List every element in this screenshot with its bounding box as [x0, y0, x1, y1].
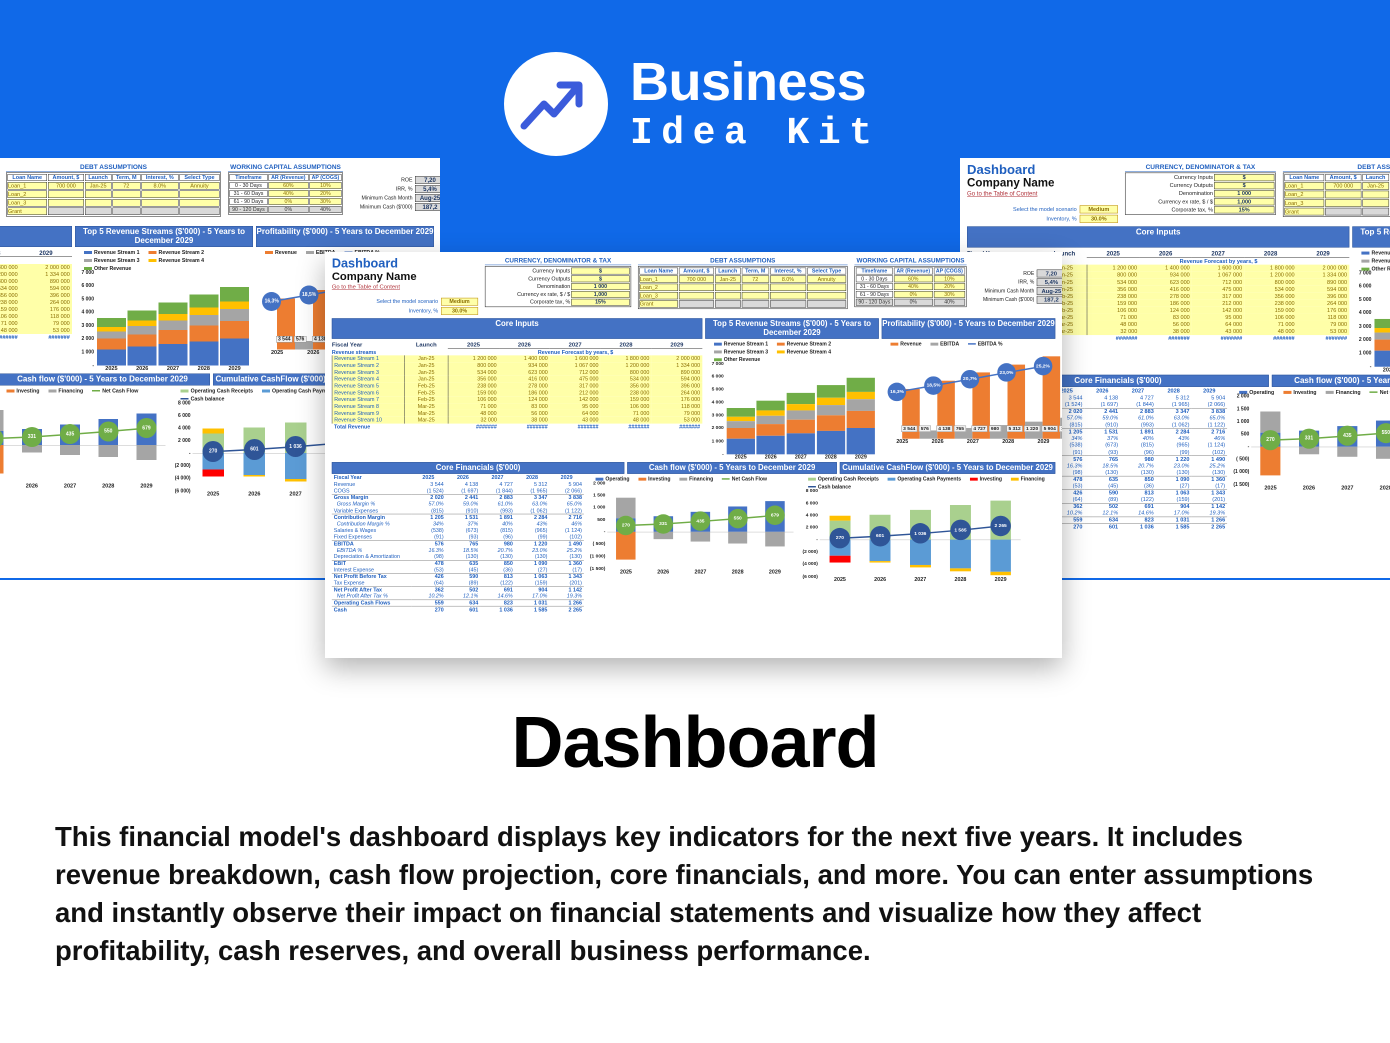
- stream-value[interactable]: 71 000: [0, 320, 20, 327]
- stream-launch[interactable]: Jan-25: [405, 369, 448, 376]
- debt-cell[interactable]: [85, 199, 111, 207]
- currency-value[interactable]: 1,000: [571, 291, 630, 298]
- debt-cell[interactable]: Loan_2: [639, 284, 677, 291]
- stream-value[interactable]: 1 800 000: [600, 355, 651, 362]
- cf-row-value: 1 090: [1156, 476, 1192, 483]
- chart-cash-flow: OperatingInvestingFinancingNet Cash Flow…: [587, 475, 797, 613]
- stream-value[interactable]: 1 334 000: [651, 362, 702, 369]
- x-tick: 2025: [620, 569, 632, 575]
- debt-cell[interactable]: [179, 208, 219, 216]
- stream-value[interactable]: 48 000: [1244, 328, 1296, 335]
- stream-value[interactable]: 1 400 000: [499, 355, 550, 362]
- stream-value[interactable]: 623 000: [1139, 279, 1191, 286]
- debt-cell[interactable]: [715, 292, 741, 299]
- stream-launch[interactable]: Feb-25: [405, 389, 448, 396]
- inventory-select[interactable]: 30.0%: [441, 307, 478, 315]
- stream-value[interactable]: 2 000 000: [651, 355, 702, 362]
- wc-cell[interactable]: 0%: [894, 299, 933, 306]
- debt-cell[interactable]: [48, 199, 84, 207]
- stream-value[interactable]: 1 067 000: [550, 362, 601, 369]
- stream-value[interactable]: 159 000: [600, 396, 651, 403]
- stream-value[interactable]: 106 000: [448, 396, 499, 403]
- core-financials-table: Fiscal Year20252026202720282029Revenue3 …: [332, 475, 584, 613]
- page-title: Dashboard: [0, 702, 1390, 784]
- stream-value[interactable]: 475 000: [1192, 286, 1244, 293]
- wc-cell[interactable]: 0%: [268, 206, 308, 213]
- cf-row-value: 850: [1120, 476, 1156, 483]
- stream-value[interactable]: 71 000: [448, 403, 499, 410]
- debt-cell[interactable]: [112, 191, 140, 199]
- stream-value[interactable]: 32 000: [1087, 328, 1139, 335]
- legend-swatch: [181, 389, 189, 392]
- stream-value[interactable]: 1 200 000: [1087, 264, 1139, 271]
- bar-segment: [158, 303, 187, 315]
- table-of-content-link[interactable]: Go to the Table of Content: [332, 283, 478, 290]
- stream-value[interactable]: 800 000: [0, 278, 20, 285]
- value-bubble: 270: [830, 528, 850, 548]
- stream-value[interactable]: 238 000: [448, 382, 499, 389]
- stream-name[interactable]: Revenue Stream 8: [332, 403, 404, 410]
- stream-value[interactable]: 800 000: [448, 362, 499, 369]
- currency-value[interactable]: $: [1214, 182, 1274, 189]
- stream-value[interactable]: 176 000: [1297, 307, 1349, 314]
- stream-value[interactable]: 79 000: [1297, 321, 1349, 328]
- wc-cell[interactable]: 30%: [309, 198, 341, 205]
- stream-value[interactable]: 396 000: [1297, 293, 1349, 300]
- bar-segment: [757, 401, 785, 411]
- revenue-stream-row: Revenue Stream 2Jan-25800 000934 0001 06…: [332, 362, 702, 369]
- stream-value[interactable]: 106 000: [600, 403, 651, 410]
- stream-value[interactable]: 264 000: [1297, 300, 1349, 307]
- debt-box-title: DEBT ASSUMPTIONS: [6, 163, 221, 172]
- stream-value[interactable]: 95 000: [550, 403, 601, 410]
- debt-cell[interactable]: Loan_3: [8, 199, 47, 207]
- debt-cell[interactable]: [807, 300, 846, 307]
- stream-launch[interactable]: Jan-25: [405, 355, 448, 362]
- debt-cell[interactable]: Loan_2: [8, 191, 47, 199]
- stream-value[interactable]: 1 200 000: [0, 271, 20, 278]
- stream-value[interactable]: 1 200 000: [1244, 271, 1296, 278]
- stream-value[interactable]: 416 000: [499, 376, 550, 383]
- debt-cell[interactable]: Loan_3: [639, 292, 677, 299]
- stream-value[interactable]: 43 000: [550, 417, 601, 424]
- stream-value[interactable]: 317 000: [1192, 293, 1244, 300]
- debt-cell[interactable]: Loan_1: [639, 275, 677, 282]
- wc-cell[interactable]: 10%: [309, 182, 341, 189]
- brand-subtitle: Idea Kit: [630, 115, 880, 153]
- debt-cell[interactable]: [742, 292, 769, 299]
- debt-cell[interactable]: [85, 191, 111, 199]
- wc-cell[interactable]: 40%: [309, 206, 341, 213]
- scenario-select[interactable]: Medium: [441, 298, 478, 306]
- debt-cell[interactable]: [807, 284, 846, 291]
- stream-value[interactable]: 356 000: [1244, 293, 1296, 300]
- debt-cell[interactable]: [112, 199, 140, 207]
- stream-value[interactable]: 594 000: [20, 285, 72, 292]
- stream-value[interactable]: 95 000: [1192, 314, 1244, 321]
- stream-value[interactable]: 186 000: [499, 389, 550, 396]
- debt-cell[interactable]: [715, 284, 741, 291]
- stream-value[interactable]: 142 000: [1192, 307, 1244, 314]
- debt-cell[interactable]: [742, 300, 769, 307]
- stream-value[interactable]: 2 000 000: [1297, 264, 1349, 271]
- debt-cell[interactable]: [179, 191, 219, 199]
- currency-value[interactable]: $: [571, 268, 630, 275]
- wc-cell[interactable]: 30%: [934, 291, 965, 298]
- cf-row-value: 59.0%: [1084, 415, 1120, 422]
- stream-value[interactable]: 356 000: [1087, 286, 1139, 293]
- stream-value[interactable]: 159 000: [1244, 307, 1296, 314]
- legend-item: Financing: [48, 388, 83, 394]
- stream-value[interactable]: 83 000: [499, 403, 550, 410]
- cf-row-value: 40%: [1120, 435, 1156, 442]
- stream-value[interactable]: 1 600 000: [550, 355, 601, 362]
- working-capital-table: TimeframeAR (Revenue)AP (COGS)0 - 30 Day…: [228, 173, 343, 215]
- stream-value[interactable]: 416 000: [1139, 286, 1191, 293]
- currency-table: Currency Inputs$Currency Outputs$Denomin…: [485, 266, 631, 307]
- debt-cell[interactable]: [679, 292, 714, 299]
- stream-value[interactable]: 264 000: [20, 299, 72, 306]
- stream-name[interactable]: Revenue Stream 3: [332, 369, 404, 376]
- stream-value[interactable]: 71 000: [1087, 314, 1139, 321]
- debt-cell[interactable]: [679, 300, 714, 307]
- bar-segment: [158, 330, 187, 344]
- currency-value[interactable]: $: [1214, 174, 1274, 181]
- revenue-stream-row: Revenue Stream 4Jan-25356 000416 000475 …: [0, 285, 72, 292]
- bar-segment: [787, 433, 815, 454]
- debt-cell[interactable]: 8.0%: [770, 275, 806, 282]
- kpi-row: Minimum Cash ($'000)187,2: [350, 203, 440, 211]
- chart-profitability: RevenueEBITDAEBITDA %3 5445764 1387654 7…: [882, 340, 1062, 460]
- debt-cell[interactable]: [1362, 199, 1389, 207]
- stream-value[interactable]: 159 000: [1087, 300, 1139, 307]
- stream-value[interactable]: 212 000: [550, 389, 601, 396]
- stream-value[interactable]: 800 000: [600, 369, 651, 376]
- debt-cell[interactable]: [807, 292, 846, 299]
- stream-name[interactable]: Revenue Stream 9: [332, 410, 404, 417]
- stream-value[interactable]: 890 000: [1297, 279, 1349, 286]
- cf-row-value: 20.7%: [1120, 462, 1156, 469]
- debt-cell[interactable]: 700 000: [1325, 182, 1361, 190]
- kpi-row: Minimum Cash ($'000)187,2: [973, 296, 1062, 304]
- stream-value[interactable]: 278 000: [1139, 293, 1191, 300]
- stream-value[interactable]: 356 000: [0, 292, 20, 299]
- stream-value[interactable]: 159 000: [448, 389, 499, 396]
- y-tick: -: [1370, 364, 1372, 370]
- stream-value[interactable]: 38 000: [1139, 328, 1191, 335]
- currency-row: Denomination1 000: [486, 283, 629, 290]
- stream-value[interactable]: 800 000: [1087, 271, 1139, 278]
- stream-value[interactable]: 106 000: [1087, 307, 1139, 314]
- debt-cell[interactable]: [1362, 191, 1389, 199]
- debt-cell[interactable]: [141, 199, 178, 207]
- debt-cell[interactable]: Loan_1: [8, 182, 47, 190]
- stream-value[interactable]: 1 067 000: [1192, 271, 1244, 278]
- stream-value[interactable]: 712 000: [550, 369, 601, 376]
- stream-value[interactable]: 118 000: [651, 403, 702, 410]
- stream-value[interactable]: 212 000: [1192, 300, 1244, 307]
- bar-segment: [1374, 333, 1390, 340]
- debt-cell[interactable]: [715, 300, 741, 307]
- stream-value[interactable]: 238 000: [1244, 300, 1296, 307]
- stream-value[interactable]: 1 334 000: [20, 271, 72, 278]
- currency-label: Currency ex rate, $ / $: [1126, 198, 1213, 205]
- stream-value[interactable]: 64 000: [1192, 321, 1244, 328]
- legend-item: Revenue Stream 1: [84, 249, 140, 255]
- stream-value[interactable]: 106 000: [0, 313, 20, 320]
- debt-cell[interactable]: [48, 191, 84, 199]
- debt-cell[interactable]: [141, 191, 178, 199]
- inventory-select[interactable]: 30.0%: [1080, 215, 1118, 223]
- stream-launch[interactable]: Mar-25: [405, 410, 448, 417]
- wc-cell[interactable]: 40%: [894, 283, 933, 290]
- currency-value[interactable]: 1,000: [1214, 198, 1274, 205]
- foreground-spreadsheet-center[interactable]: DashboardCompany NameGo to the Table of …: [325, 252, 1062, 658]
- stream-value[interactable]: 142 000: [550, 396, 601, 403]
- currency-box-title: CURRENCY, DENOMINATOR & TAX: [1125, 163, 1276, 172]
- stream-launch[interactable]: Jan-25: [405, 362, 448, 369]
- stream-value[interactable]: 32 000: [448, 417, 499, 424]
- debt-cell[interactable]: [770, 284, 806, 291]
- debt-cell[interactable]: [1362, 208, 1389, 216]
- year-header: 2026: [499, 341, 550, 348]
- ebitda-percent-bubble: 18,5%: [300, 285, 319, 304]
- debt-cell[interactable]: [1325, 208, 1361, 216]
- debt-cell[interactable]: [770, 300, 806, 307]
- debt-cell[interactable]: 700 000: [679, 275, 714, 282]
- debt-cell[interactable]: Loan_1: [1284, 182, 1324, 190]
- cf-row-value: (130): [1156, 469, 1192, 476]
- debt-cell[interactable]: [1325, 199, 1361, 207]
- chart-top-5-revenue-streams: Revenue Stream 1Revenue Stream 2Revenue …: [75, 248, 253, 372]
- debt-cell[interactable]: Annuity: [807, 275, 846, 282]
- stream-value[interactable]: 264 000: [651, 389, 702, 396]
- debt-cell[interactable]: [48, 208, 84, 216]
- cf-row-value: (1 697): [1084, 401, 1120, 408]
- bar-segment: [727, 421, 755, 428]
- debt-cell[interactable]: Jan-25: [1362, 182, 1389, 190]
- wc-cell[interactable]: 10%: [934, 275, 965, 282]
- wc-cell[interactable]: 40%: [934, 299, 965, 306]
- stream-value[interactable]: 800 000: [1244, 279, 1296, 286]
- stream-value[interactable]: 238 000: [0, 299, 20, 306]
- stream-value[interactable]: 356 000: [448, 376, 499, 383]
- stream-value[interactable]: 534 000: [1244, 286, 1296, 293]
- debt-cell[interactable]: [1325, 191, 1361, 199]
- currency-value[interactable]: 15%: [571, 299, 630, 306]
- wc-cell[interactable]: 20%: [934, 283, 965, 290]
- currency-value[interactable]: 15%: [1214, 206, 1274, 213]
- stream-launch[interactable]: Feb-25: [405, 396, 448, 403]
- wc-cell[interactable]: 0%: [894, 291, 933, 298]
- stream-value[interactable]: 71 000: [1244, 321, 1296, 328]
- bar-group: [1373, 273, 1390, 367]
- wc-cell[interactable]: 0%: [268, 198, 308, 205]
- dashboard-title: Dashboard: [967, 163, 1118, 177]
- stream-value[interactable]: 934 000: [1139, 271, 1191, 278]
- x-axis: 20252026202720282029: [799, 576, 1023, 582]
- stream-value[interactable]: 71 000: [600, 410, 651, 417]
- stream-value[interactable]: 176 000: [651, 396, 702, 403]
- bar-column: [727, 408, 755, 454]
- bar-segment: [158, 344, 187, 365]
- stream-value[interactable]: 238 000: [1087, 293, 1139, 300]
- stream-value[interactable]: 124 000: [499, 396, 550, 403]
- debt-cell[interactable]: 72: [112, 182, 140, 190]
- stream-launch[interactable]: Mar-25: [405, 403, 448, 410]
- scenario-select[interactable]: Medium: [1080, 205, 1118, 213]
- cf-row: Contribution Margin1 2051 5311 8912 2842…: [332, 514, 584, 521]
- debt-cell[interactable]: [85, 208, 111, 216]
- debt-cell[interactable]: 8.0%: [141, 182, 178, 190]
- debt-cell[interactable]: Grant: [639, 300, 677, 307]
- stream-value[interactable]: 475 000: [550, 376, 601, 383]
- stream-launch[interactable]: Jan-25: [405, 376, 448, 383]
- debt-cell[interactable]: Loan_2: [1284, 191, 1324, 199]
- stream-value[interactable]: 48 000: [600, 417, 651, 424]
- chart-plot: 3 5445764 1387654 7279805 3121 2205 9041…: [882, 348, 1062, 439]
- stream-value[interactable]: 1 800 000: [1244, 264, 1296, 271]
- stream-value[interactable]: 534 000: [600, 376, 651, 383]
- core-financials-panel: Fiscal Year20252026202720282029Revenue3 …: [332, 475, 584, 613]
- stream-value[interactable]: 534 000: [1087, 279, 1139, 286]
- wc-cell[interactable]: 40%: [268, 190, 308, 197]
- stream-value[interactable]: 890 000: [20, 278, 72, 285]
- table-of-content-link[interactable]: Go to the Table of Content: [967, 190, 1118, 197]
- currency-value[interactable]: 1 000: [571, 283, 630, 290]
- stream-value[interactable]: 890 000: [651, 369, 702, 376]
- stream-value[interactable]: 934 000: [499, 362, 550, 369]
- stream-name[interactable]: Revenue Stream 1: [332, 355, 404, 362]
- debt-cell[interactable]: [742, 284, 769, 291]
- cf-row-value: 1 031: [1156, 517, 1192, 524]
- cf-row-value: (965): [1156, 442, 1192, 449]
- y-tick: 4 000: [712, 400, 724, 405]
- debt-cell[interactable]: 72: [742, 275, 769, 282]
- debt-cell[interactable]: Grant: [8, 208, 47, 216]
- stream-value[interactable]: 83 000: [1139, 314, 1191, 321]
- stream-value[interactable]: 48 000: [0, 327, 20, 334]
- debt-cell[interactable]: [679, 284, 714, 291]
- debt-cell[interactable]: Grant: [1284, 208, 1324, 216]
- stream-launch[interactable]: Mar-25: [405, 417, 448, 424]
- stream-value[interactable]: 43 000: [1192, 328, 1244, 335]
- cf-row-value: (96): [1120, 449, 1156, 456]
- stream-value[interactable]: 396 000: [20, 292, 72, 299]
- stream-value[interactable]: 53 000: [20, 327, 72, 334]
- stream-value[interactable]: 64 000: [550, 410, 601, 417]
- stream-value[interactable]: 712 000: [1192, 279, 1244, 286]
- stream-value[interactable]: 38 000: [499, 417, 550, 424]
- currency-value[interactable]: $: [571, 275, 630, 282]
- wc-col-header: Timeframe: [856, 268, 893, 275]
- stream-value[interactable]: 534 000: [448, 369, 499, 376]
- debt-cell[interactable]: [770, 292, 806, 299]
- stream-value[interactable]: 186 000: [1139, 300, 1191, 307]
- y-axis: -1 0002 0003 0004 0005 0006 0007 000: [1352, 273, 1372, 367]
- currency-value[interactable]: 1 000: [1214, 190, 1274, 197]
- debt-cell[interactable]: 700 000: [48, 182, 84, 190]
- total-revenue-value: #######: [1139, 335, 1191, 342]
- debt-cell[interactable]: [112, 208, 140, 216]
- stream-value[interactable]: 1 400 000: [1139, 264, 1191, 271]
- legend-swatch: [149, 259, 157, 262]
- stream-value[interactable]: 1 200 000: [600, 362, 651, 369]
- sheet-title-block: DashboardCompany NameGo to the Table of …: [967, 163, 1118, 224]
- stream-value[interactable]: 317 000: [550, 382, 601, 389]
- stream-value[interactable]: 1 800 000: [0, 264, 20, 271]
- currency-box: CURRENCY, DENOMINATOR & TAXCurrency Inpu…: [485, 257, 631, 307]
- stream-value[interactable]: 56 000: [1139, 321, 1191, 328]
- revenue-stream-row: Revenue Stream 2Jan-25800 000934 0001 06…: [0, 271, 72, 278]
- cf-row-label: Tax Expense: [332, 580, 411, 587]
- stream-value[interactable]: 1 200 000: [448, 355, 499, 362]
- stream-value[interactable]: 159 000: [0, 306, 20, 313]
- x-tick: 2027: [967, 439, 979, 445]
- stream-value[interactable]: 124 000: [1139, 307, 1191, 314]
- legend-item: Revenue Stream 4: [149, 257, 205, 263]
- bar-segment: [1374, 319, 1390, 328]
- wc-cell[interactable]: 20%: [309, 190, 341, 197]
- revenue-streams-table: Revenue Stream 1Jan-251 200 0001 400 000…: [0, 264, 72, 341]
- debt-cell[interactable]: Jan-25: [715, 275, 741, 282]
- stream-value[interactable]: 2 000 000: [20, 264, 72, 271]
- stream-value[interactable]: 396 000: [651, 382, 702, 389]
- stream-value[interactable]: 238 000: [600, 389, 651, 396]
- stream-value[interactable]: 594 000: [651, 376, 702, 383]
- stream-value[interactable]: 623 000: [499, 369, 550, 376]
- stream-value[interactable]: 106 000: [1244, 314, 1296, 321]
- stream-value[interactable]: 48 000: [1087, 321, 1139, 328]
- debt-cell[interactable]: [179, 199, 219, 207]
- stream-launch[interactable]: Feb-25: [405, 382, 448, 389]
- stream-value[interactable]: 534 000: [0, 285, 20, 292]
- stream-value[interactable]: 53 000: [651, 417, 702, 424]
- debt-cell[interactable]: Loan_3: [1284, 199, 1324, 207]
- stream-name[interactable]: Revenue Stream 7: [332, 396, 404, 403]
- wc-cell[interactable]: 60%: [894, 275, 933, 282]
- stream-name[interactable]: Revenue Stream 10: [332, 417, 404, 424]
- stream-value[interactable]: 118 000: [20, 313, 72, 320]
- cf-row-value: (910): [1084, 422, 1120, 429]
- stream-value[interactable]: 356 000: [600, 382, 651, 389]
- debt-cell[interactable]: Annuity: [179, 182, 219, 190]
- stream-name[interactable]: Revenue Stream 6: [332, 389, 404, 396]
- stream-value[interactable]: 118 000: [1297, 314, 1349, 321]
- wc-cell: 90 - 120 Days: [230, 206, 268, 213]
- stream-value[interactable]: 1 600 000: [1192, 264, 1244, 271]
- stream-name[interactable]: Revenue Stream 5: [332, 382, 404, 389]
- stream-name[interactable]: Revenue Stream 4: [332, 376, 404, 383]
- stream-value[interactable]: 278 000: [499, 382, 550, 389]
- bar-segment: [189, 325, 218, 341]
- stream-value[interactable]: 594 000: [1297, 286, 1349, 293]
- stream-value[interactable]: 56 000: [499, 410, 550, 417]
- debt-cell[interactable]: [141, 208, 178, 216]
- chart-legend: OperatingInvestingFinancingNet Cash Flow: [1230, 388, 1390, 397]
- y-tick: 4 000: [81, 309, 94, 315]
- stream-value[interactable]: 53 000: [1297, 328, 1349, 335]
- debt-cell[interactable]: Jan-25: [85, 182, 111, 190]
- x-tick: 2026: [765, 454, 777, 460]
- stream-value[interactable]: 48 000: [448, 410, 499, 417]
- stream-value[interactable]: 79 000: [651, 410, 702, 417]
- stream-value[interactable]: 79 000: [20, 320, 72, 327]
- stream-name[interactable]: Revenue Stream 2: [332, 362, 404, 369]
- stream-value[interactable]: 176 000: [20, 306, 72, 313]
- stream-value[interactable]: 1 334 000: [1297, 271, 1349, 278]
- wc-cell[interactable]: 60%: [268, 182, 308, 189]
